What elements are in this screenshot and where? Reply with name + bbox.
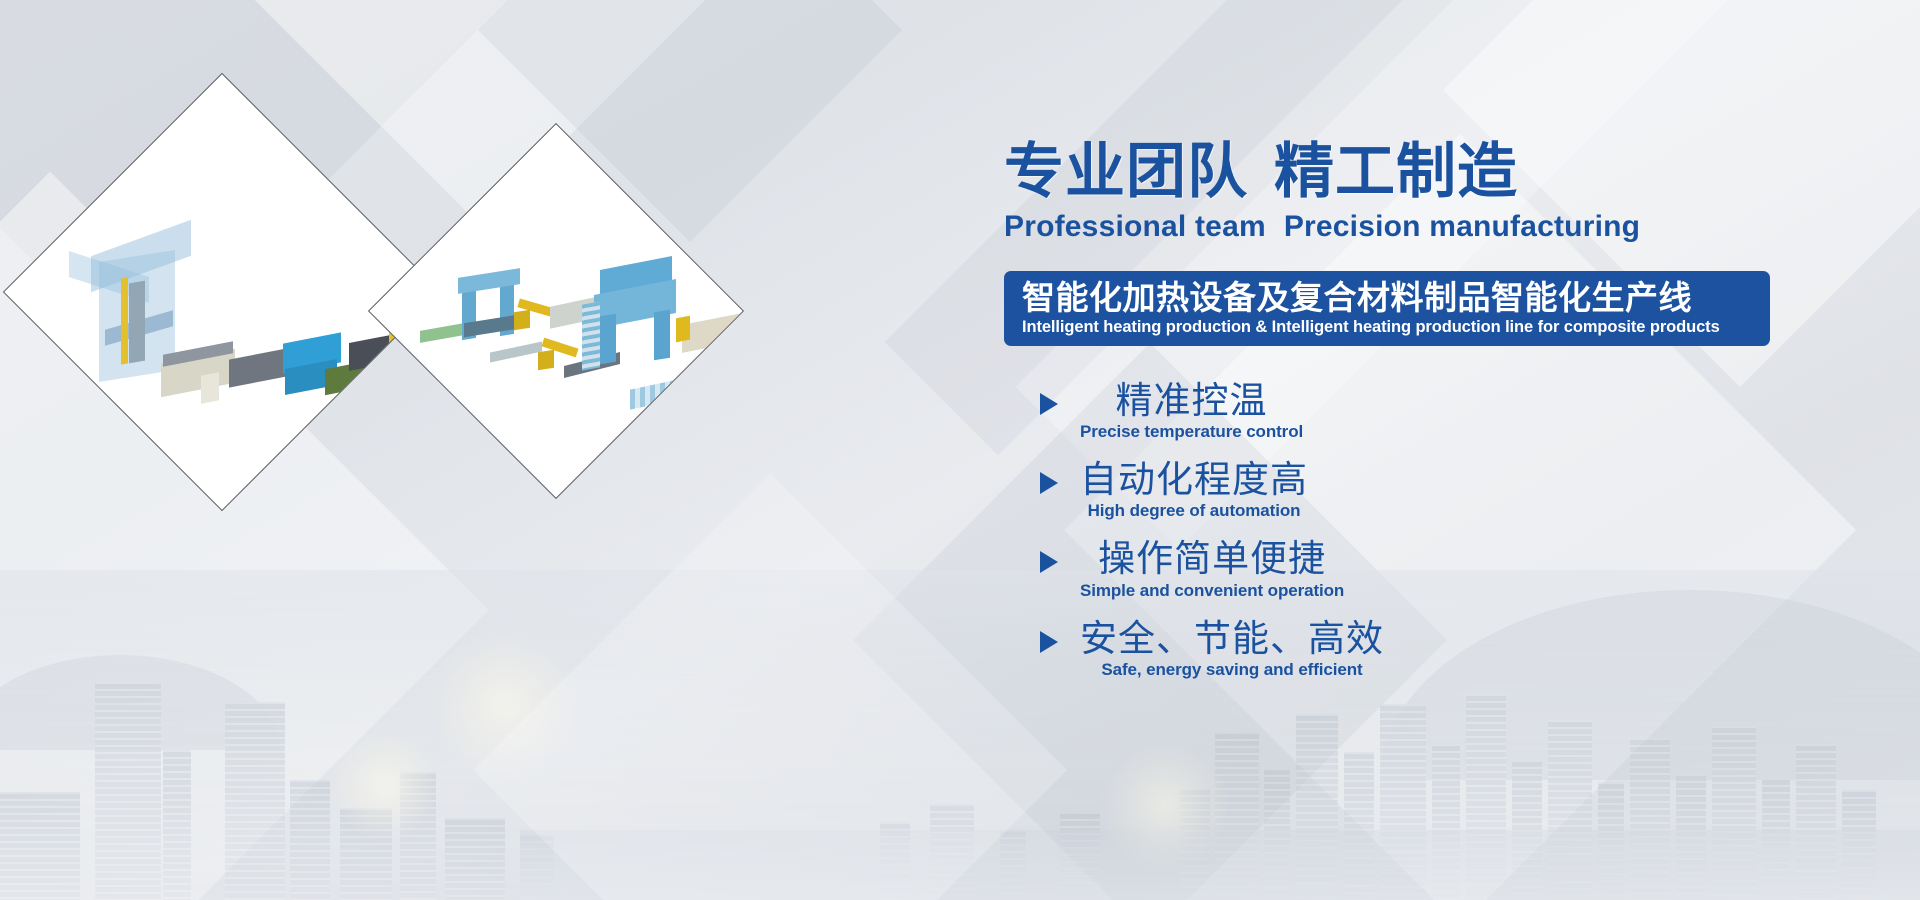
- feature-label-cn: 自动化程度高: [1080, 459, 1308, 500]
- feature-list: 精准控温 Precise temperature control 自动化程度高 …: [1004, 380, 1794, 681]
- feature-item: 安全、节能、高效 Safe, energy saving and efficie…: [1004, 618, 1794, 680]
- feature-item: 操作简单便捷 Simple and convenient operation: [1004, 538, 1794, 600]
- light-glow: [330, 730, 440, 840]
- feature-text: 安全、节能、高效 Safe, energy saving and efficie…: [1080, 618, 1384, 680]
- diamond-2-content: [424, 179, 688, 443]
- control-cabinet: [201, 372, 219, 403]
- triangle-right-icon: [1040, 631, 1058, 653]
- robot-base-b: [538, 350, 554, 371]
- conveyor-mid: [490, 341, 542, 362]
- feature-text: 自动化程度高 High degree of automation: [1080, 459, 1308, 521]
- building: [225, 702, 285, 900]
- product-name-cn: 智能化加热设备及复合材料制品智能化生产线: [1022, 279, 1756, 317]
- winder-yellow: [676, 316, 690, 343]
- triangle-right-icon: [1040, 551, 1058, 573]
- feature-item: 自动化程度高 High degree of automation: [1004, 459, 1794, 521]
- feature-text: 精准控温 Precise temperature control: [1080, 380, 1303, 442]
- building: [163, 750, 191, 900]
- headline-en-part2: Precision manufacturing: [1284, 210, 1640, 243]
- press-main-leg-b: [654, 310, 670, 361]
- building: [290, 780, 330, 900]
- light-glow: [1100, 740, 1230, 870]
- building: [95, 682, 161, 900]
- product-name-bar: 智能化加热设备及复合材料制品智能化生产线 Intelligent heating…: [1004, 271, 1770, 346]
- feature-label-cn: 精准控温: [1116, 380, 1268, 421]
- feature-label-cn: 操作简单便捷: [1098, 538, 1326, 579]
- press-yellow-rail: [121, 277, 128, 364]
- headline-en-part1: Professional team: [1004, 210, 1266, 243]
- diamond-1-content: [68, 138, 376, 446]
- feature-text: 操作简单便捷 Simple and convenient operation: [1080, 538, 1344, 600]
- feature-label-cn: 安全、节能、高效: [1080, 618, 1384, 659]
- feature-label-en: Simple and convenient operation: [1080, 581, 1344, 601]
- headline-cn-part2: 精工制造: [1274, 138, 1518, 205]
- product-name-en: Intelligent heating production & Intelli…: [1022, 318, 1756, 337]
- feature-label-en: Precise temperature control: [1080, 422, 1303, 442]
- access-stair: [582, 301, 600, 370]
- feature-label-en: High degree of automation: [1088, 501, 1301, 521]
- conveyor-intake: [420, 323, 464, 343]
- triangle-right-icon: [1040, 393, 1058, 415]
- page-subtitle: Professional teamPrecision manufacturing: [1004, 210, 1794, 244]
- triangle-right-icon: [1040, 472, 1058, 494]
- page-title: 专业团队精工制造: [1004, 140, 1794, 204]
- feature-label-en: Safe, energy saving and efficient: [1101, 660, 1362, 680]
- building: [445, 818, 505, 900]
- promo-banner: 专业团队精工制造 Professional teamPrecision manu…: [0, 0, 1920, 900]
- conveyor-grey: [229, 348, 287, 387]
- content-panel: 专业团队精工制造 Professional teamPrecision manu…: [1004, 140, 1794, 697]
- press-column: [129, 281, 145, 364]
- feature-item: 精准控温 Precise temperature control: [1004, 380, 1794, 442]
- robot-base-a: [514, 310, 530, 331]
- building: [0, 792, 80, 900]
- headline-cn-part1: 专业团队: [1004, 138, 1248, 205]
- press-main-leg-a: [600, 314, 616, 365]
